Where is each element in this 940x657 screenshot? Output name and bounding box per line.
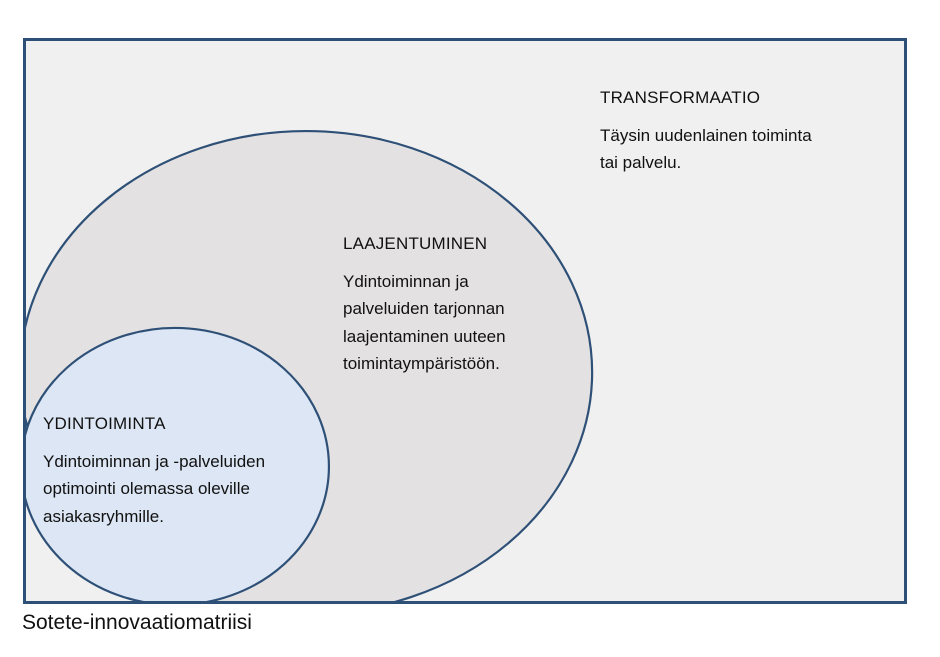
ydintoiminta-text-block: YDINTOIMINTA Ydintoiminnan ja -palveluid… bbox=[43, 414, 333, 530]
laajentuminen-title: LAAJENTUMINEN bbox=[343, 234, 583, 254]
transformaatio-body: Täysin uudenlainen toiminta tai palvelu. bbox=[600, 122, 890, 177]
ydintoiminta-line-1: Ydintoiminnan ja -palveluiden bbox=[43, 448, 333, 476]
transformaatio-line-2: tai palvelu. bbox=[600, 149, 890, 177]
innovation-matrix-diagram: TRANSFORMAATIO Täysin uudenlainen toimin… bbox=[0, 0, 940, 657]
ydintoiminta-line-2: optimointi olemassa oleville bbox=[43, 475, 333, 503]
laajentuminen-body: Ydintoiminnan ja palveluiden tarjonnan l… bbox=[343, 268, 583, 378]
laajentuminen-line-3: laajentaminen uuteen bbox=[343, 323, 583, 351]
ydintoiminta-body: Ydintoiminnan ja -palveluiden optimointi… bbox=[43, 448, 333, 531]
figure-caption: Sotete-innovaatiomatriisi bbox=[22, 610, 252, 636]
transformaatio-text-block: TRANSFORMAATIO Täysin uudenlainen toimin… bbox=[600, 88, 890, 177]
laajentuminen-line-1: Ydintoiminnan ja bbox=[343, 268, 583, 296]
ydintoiminta-title: YDINTOIMINTA bbox=[43, 414, 333, 434]
laajentuminen-line-4: toimintaympäristöön. bbox=[343, 350, 583, 378]
ydintoiminta-line-3: asiakasryhmille. bbox=[43, 503, 333, 531]
laajentuminen-text-block: LAAJENTUMINEN Ydintoiminnan ja palveluid… bbox=[343, 234, 583, 378]
laajentuminen-line-2: palveluiden tarjonnan bbox=[343, 295, 583, 323]
transformaatio-line-1: Täysin uudenlainen toiminta bbox=[600, 122, 890, 150]
transformaatio-title: TRANSFORMAATIO bbox=[600, 88, 890, 108]
